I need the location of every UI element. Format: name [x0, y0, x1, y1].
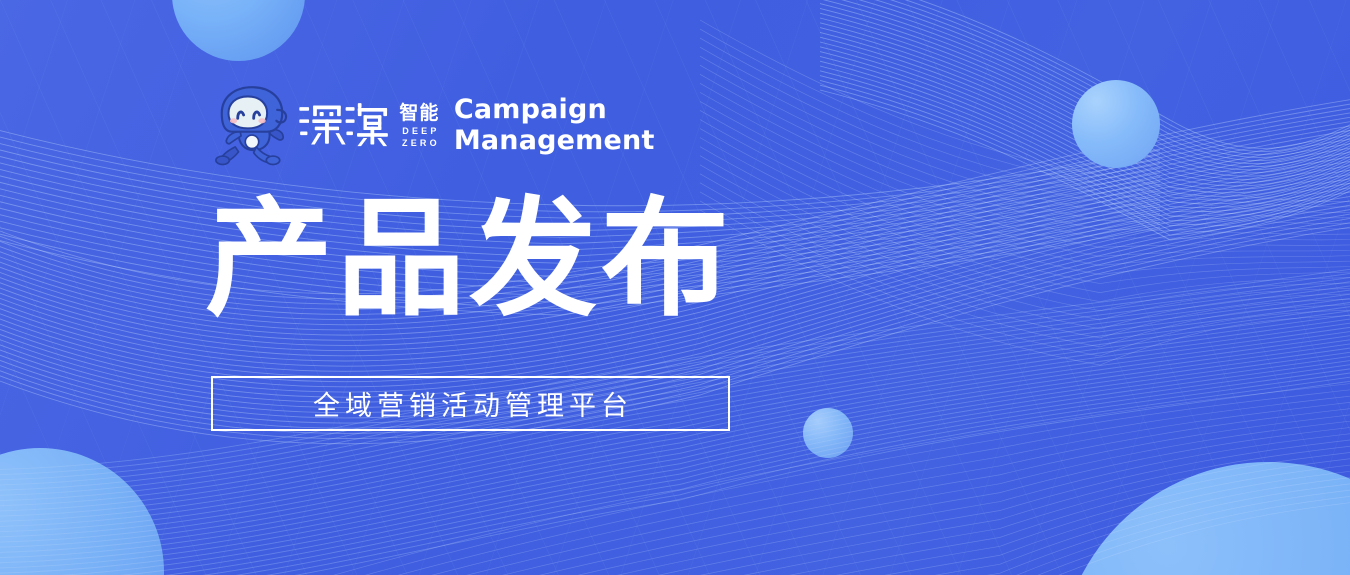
brand-sub-cn: 智能 [399, 104, 439, 123]
subtitle-text: 全域营销活动管理平台 [308, 384, 633, 423]
wordmark-cn-icon [298, 99, 390, 151]
product-name-en: Campaign Management [454, 94, 655, 157]
banner-content: 智能 DEEP ZERO Campaign Management 产品发布 全域… [0, 0, 1350, 575]
product-name-en-line1: Campaign [454, 94, 655, 125]
robot-mascot-icon [210, 82, 294, 168]
product-launch-banner: 智能 DEEP ZERO Campaign Management 产品发布 全域… [0, 0, 1350, 575]
subtitle-box: 全域营销活动管理平台 [211, 376, 730, 431]
brand-wordmark: 智能 DEEP ZERO [298, 99, 440, 151]
brand-sub-lockup: 智能 DEEP ZERO [399, 104, 440, 148]
page-title: 产品发布 [205, 196, 733, 324]
brand-logo-lockup: 智能 DEEP ZERO Campaign Management [210, 82, 655, 168]
brand-sub-en-line2: ZERO [399, 139, 440, 148]
brand-sub-en-line1: DEEP [399, 127, 439, 136]
product-name-en-line2: Management [454, 125, 655, 156]
